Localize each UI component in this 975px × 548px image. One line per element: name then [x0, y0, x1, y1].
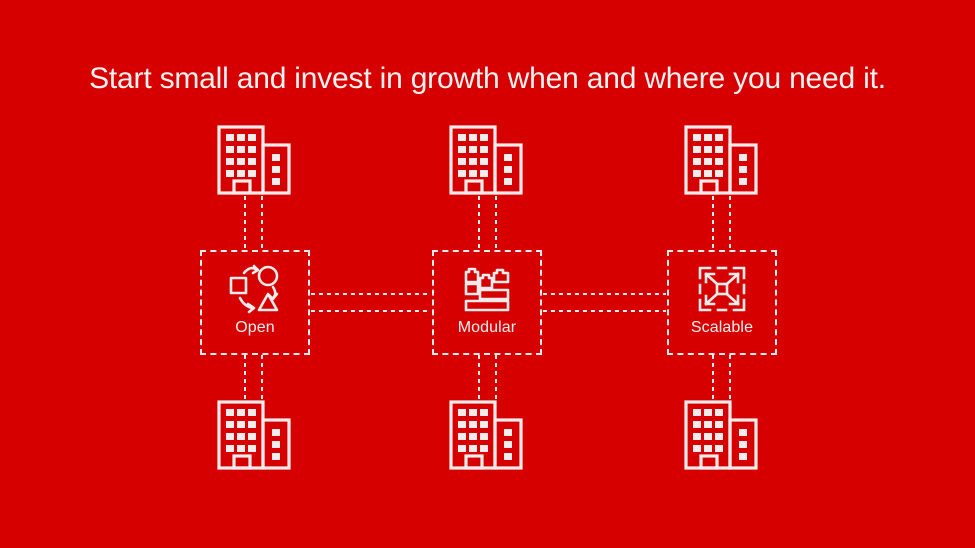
office-building-icon: [684, 125, 760, 195]
shapes-cycle-icon: [227, 264, 283, 314]
card-label-modular: Modular: [458, 320, 517, 336]
page-title: Start small and invest in growth when an…: [0, 62, 975, 96]
card-open[interactable]: Open: [200, 250, 310, 355]
card-scalable[interactable]: Scalable: [667, 250, 777, 355]
building-blocks-icon: [459, 264, 515, 314]
column-scalable: Scalable: [632, 125, 812, 485]
office-building-icon: [684, 400, 760, 470]
slide-canvas: Start small and invest in growth when an…: [0, 0, 975, 548]
office-building-icon: [449, 400, 525, 470]
office-building-icon: [217, 125, 293, 195]
expand-arrows-icon: [694, 264, 750, 314]
office-building-icon: [449, 125, 525, 195]
column-modular: Modular: [397, 125, 577, 485]
office-building-icon: [217, 400, 293, 470]
card-label-open: Open: [235, 320, 275, 336]
card-modular[interactable]: Modular: [432, 250, 542, 355]
column-open: Open: [165, 125, 345, 485]
card-label-scalable: Scalable: [691, 320, 753, 336]
